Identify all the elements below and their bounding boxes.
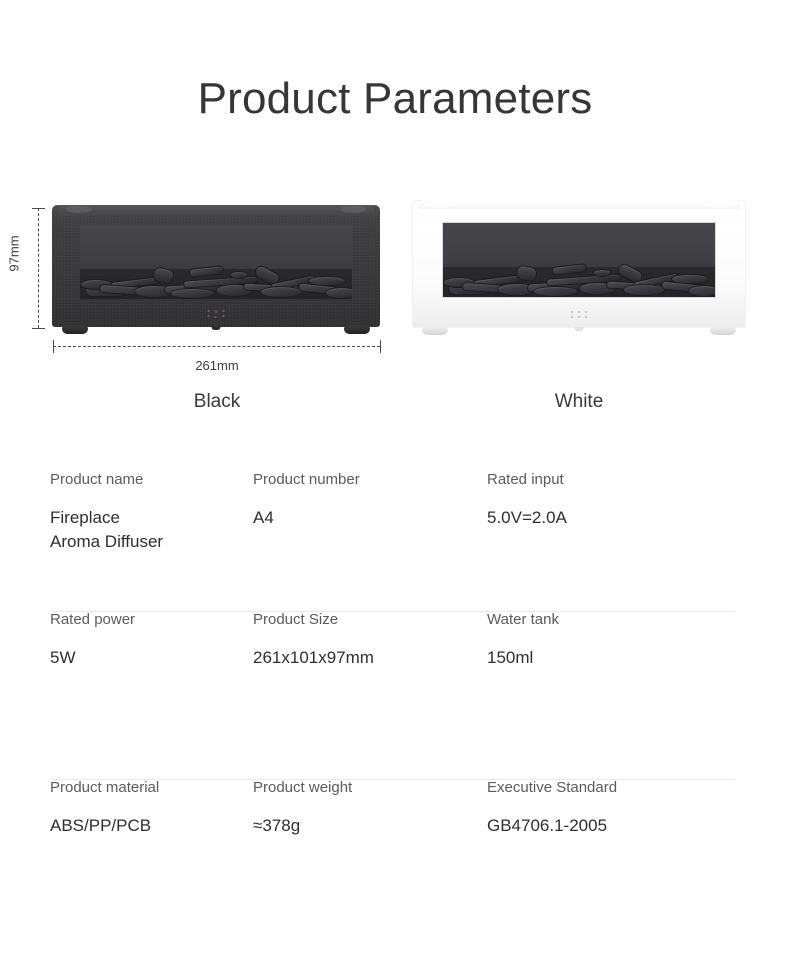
corner-highlight-right: [706, 201, 732, 208]
power-led-icon: [215, 310, 218, 313]
spec-cell: Product number A4: [253, 470, 487, 610]
unit-top-bevel: [418, 200, 740, 209]
spec-label: Product Size: [253, 610, 487, 630]
black-fireplace-unit: [52, 205, 380, 327]
spec-cell: Product name Fireplace Aroma Diffuser: [0, 470, 253, 610]
flame-window: [80, 225, 352, 299]
spec-label: Rated input: [487, 470, 740, 490]
unit-foot-right: [344, 325, 370, 334]
spec-cell: Product weight ≈378g: [253, 778, 487, 898]
unit-top-bevel: [58, 205, 374, 214]
spec-row: Product material ABS/PP/PCB Product weig…: [0, 778, 790, 898]
corner-highlight-left: [66, 206, 92, 213]
control-nub: [575, 327, 584, 331]
spec-value: 5W: [50, 646, 253, 670]
spec-cell: Executive Standard GB4706.1-2005: [487, 778, 740, 898]
control-indicator-dots[interactable]: [571, 311, 587, 318]
spec-value: 150ml: [487, 646, 740, 670]
spec-row: Rated power 5W Product Size 261x101x97mm…: [0, 610, 790, 778]
spec-value: GB4706.1-2005: [487, 814, 740, 838]
unit-foot-left: [62, 325, 88, 334]
flame-window: [442, 222, 716, 298]
log-pile: [443, 254, 715, 297]
spec-value: 261x101x97mm: [253, 646, 487, 670]
spec-label: Rated power: [50, 610, 253, 630]
spec-value: ≈378g: [253, 814, 487, 838]
product-showcase: 97mm 261mm Black White: [0, 0, 790, 430]
spec-label: Product weight: [253, 778, 487, 798]
control-nub: [212, 326, 221, 330]
unit-foot-left: [422, 326, 448, 335]
white-fireplace-unit: [412, 200, 746, 328]
spec-value: 5.0V=2.0A: [487, 506, 740, 530]
corner-highlight-left: [426, 201, 452, 208]
spec-cell: Product material ABS/PP/PCB: [0, 778, 253, 898]
width-dimension-label: 261mm: [53, 358, 381, 373]
height-dimension-label: 97mm: [7, 226, 22, 282]
spec-cell: Rated input 5.0V=2.0A: [487, 470, 740, 610]
spec-row: Product name Fireplace Aroma Diffuser Pr…: [0, 470, 790, 610]
spec-value: A4: [253, 506, 487, 530]
control-indicator-dots[interactable]: [208, 310, 225, 318]
log-pile: [80, 256, 352, 299]
specifications-table: Product name Fireplace Aroma Diffuser Pr…: [0, 470, 790, 898]
height-dimension-cap-top: [32, 208, 45, 209]
spec-label: Water tank: [487, 610, 740, 630]
spec-label: Executive Standard: [487, 778, 740, 798]
width-dimension-line: [53, 346, 380, 347]
height-dimension-line: [38, 208, 39, 328]
corner-highlight-right: [340, 206, 366, 213]
spec-label: Product number: [253, 470, 487, 490]
width-dimension-cap-left: [53, 340, 54, 353]
unit-foot-right: [710, 326, 736, 335]
variant-caption-black: Black: [53, 391, 381, 413]
spec-cell: Product Size 261x101x97mm: [253, 610, 487, 778]
spec-cell: Rated power 5W: [0, 610, 253, 778]
spec-value: ABS/PP/PCB: [50, 814, 253, 838]
width-dimension-cap-right: [380, 340, 381, 353]
height-dimension-cap-bottom: [32, 328, 45, 329]
spec-label: Product name: [50, 470, 253, 490]
spec-value: Fireplace Aroma Diffuser: [50, 506, 253, 554]
spec-cell: Water tank 150ml: [487, 610, 740, 778]
spec-label: Product material: [50, 778, 253, 798]
variant-caption-white: White: [412, 391, 746, 413]
